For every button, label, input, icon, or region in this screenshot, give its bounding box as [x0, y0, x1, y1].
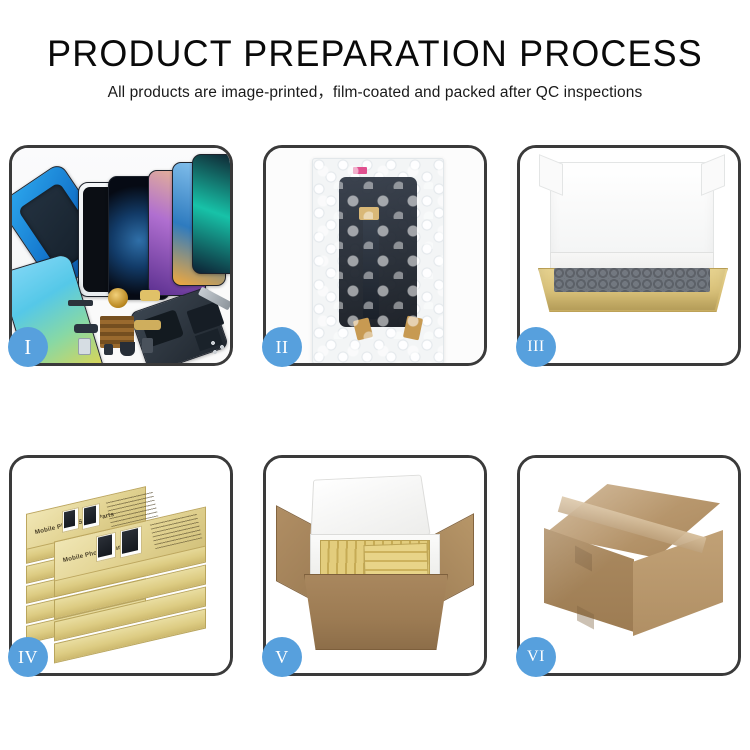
step-badge-3: III [516, 327, 556, 367]
battery-part-icon [142, 338, 153, 353]
retail-box-screen-art-2 [84, 506, 96, 526]
step-panel-1[interactable]: I [9, 145, 233, 366]
step-panel-2[interactable]: II [263, 145, 487, 366]
step-image-3 [520, 148, 738, 363]
inner-box-shadow [538, 268, 726, 310]
page-subtitle: All products are image-printed，film-coat… [0, 82, 750, 104]
step-badge-1: I [8, 327, 48, 367]
connector-tab-1-icon [359, 207, 379, 220]
flex-cable-2-icon [134, 320, 161, 330]
retail-box-screen-art-4 [122, 528, 138, 554]
product-preparation-infographic: PRODUCT PREPARATION PROCESS All products… [0, 0, 750, 750]
step-image-4: Mobile Phone Spare Parts Mobile Phone Sp… [12, 458, 230, 673]
step-image-1 [12, 148, 230, 363]
phone-teal-screen-icon [192, 154, 230, 274]
screen-flex-cable-icon [363, 211, 379, 319]
speaker-module-icon [120, 342, 135, 356]
step-image-5 [266, 458, 484, 673]
copper-coil-icon [108, 288, 128, 308]
step-badge-2: II [262, 327, 302, 367]
packed-retail-boxes-row2-icon [363, 543, 428, 579]
retail-box-stack-icon: Mobile Phone Spare Parts Mobile Phone Sp… [20, 476, 226, 662]
bubble-wrap-bag-icon [312, 158, 444, 363]
speaker-bar-icon [68, 300, 93, 306]
step-image-6 [520, 458, 738, 673]
step-panel-6[interactable]: VI [517, 455, 741, 676]
carton-front-panel-icon [304, 574, 448, 650]
retail-box-screen-art-1 [64, 510, 75, 529]
connector-tab-3-icon [403, 316, 423, 341]
step-image-2 [266, 148, 484, 363]
screws-icon [210, 340, 226, 354]
page-title: PRODUCT PREPARATION PROCESS [11, 32, 739, 76]
step-panel-3[interactable]: III [517, 145, 741, 366]
flex-cable-3-icon [74, 324, 98, 333]
retail-box-screen-art-3 [98, 534, 112, 557]
flex-cable-1-icon [140, 290, 160, 301]
step-panel-5[interactable]: V [263, 455, 487, 676]
connector-2-icon [104, 344, 113, 355]
process-steps-grid: I II [9, 145, 741, 676]
step-badge-5: V [262, 637, 302, 677]
foam-lid-icon [310, 475, 430, 542]
header: PRODUCT PREPARATION PROCESS All products… [0, 32, 750, 104]
step-badge-6: VI [516, 637, 556, 677]
step-badge-4: IV [8, 637, 48, 677]
step-panel-4[interactable]: Mobile Phone Spare Parts Mobile Phone Sp… [9, 455, 233, 676]
connector-1-icon [78, 338, 91, 355]
pink-qc-sticker-icon [353, 167, 367, 174]
